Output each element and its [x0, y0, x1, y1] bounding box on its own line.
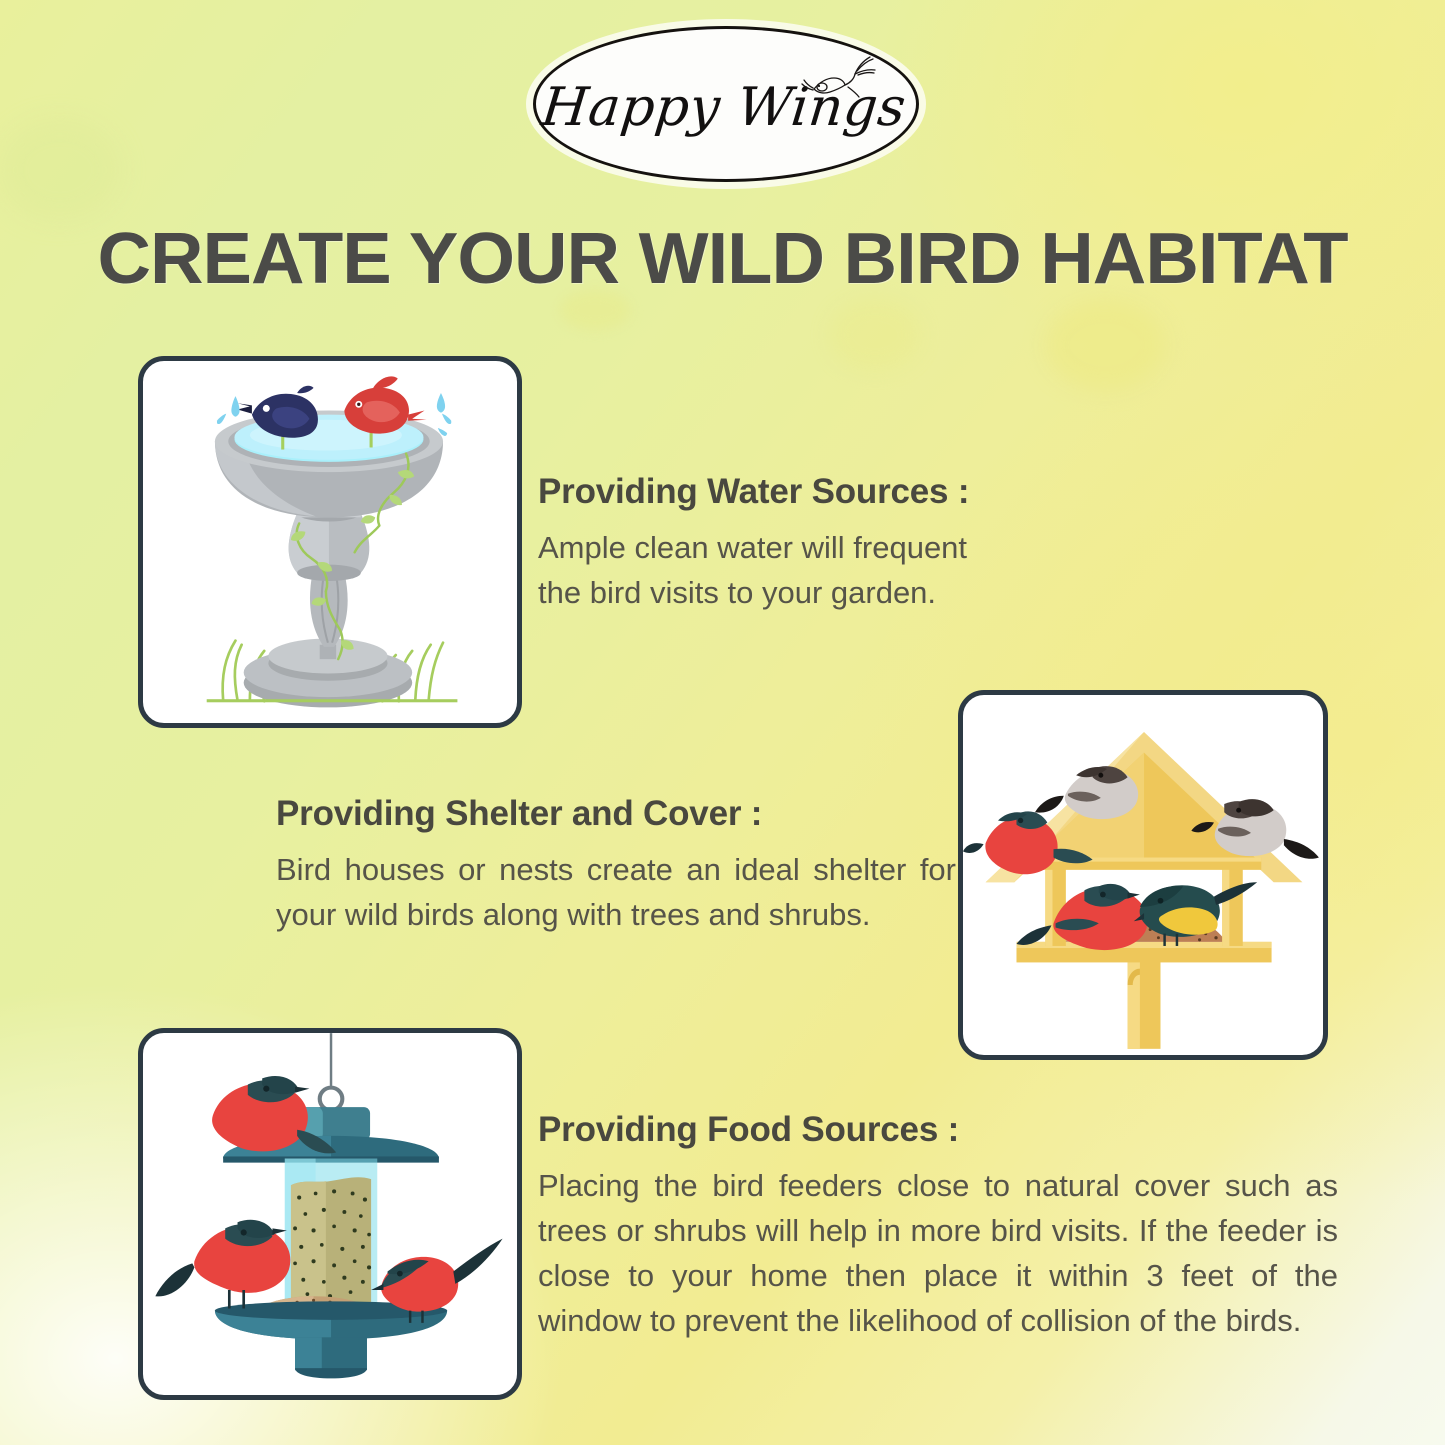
hanging-tube-feeder-illustration	[143, 1033, 517, 1395]
bird-bath-illustration	[143, 361, 517, 723]
chickadee-bird	[1035, 766, 1138, 819]
section-shelter-body: Bird houses or nests create an ideal she…	[276, 848, 956, 938]
section-food-text: Providing Food Sources : Placing the bir…	[538, 1110, 1338, 1344]
bullfinch-bird	[155, 1220, 290, 1309]
bullfinch-bird	[1016, 884, 1147, 950]
section-water-body: Ample clean water will frequent the bird…	[538, 526, 1008, 616]
poster-root: Happy Wings CREATE YOUR WILD BIRD HABITA…	[0, 0, 1445, 1445]
bird-house-illustration-card	[958, 690, 1328, 1060]
watercolor-blotch	[1045, 300, 1165, 390]
watercolor-blotch	[0, 120, 120, 220]
section-food-body: Placing the bird feeders close to natura…	[538, 1164, 1338, 1344]
page-title: CREATE YOUR WILD BIRD HABITAT	[0, 218, 1445, 300]
bird-bath-illustration-card	[138, 356, 522, 728]
section-shelter-text: Providing Shelter and Cover : Bird house…	[276, 794, 956, 938]
section-shelter-heading: Providing Shelter and Cover :	[276, 794, 956, 834]
section-water-text: Providing Water Sources : Ample clean wa…	[538, 472, 1008, 616]
hummingbird-icon	[800, 49, 880, 111]
brand-logo: Happy Wings	[533, 26, 919, 182]
section-water-heading: Providing Water Sources :	[538, 472, 1008, 512]
bird-house-feeder-illustration	[963, 695, 1323, 1055]
section-food-heading: Providing Food Sources :	[538, 1110, 1338, 1150]
watercolor-blotch	[830, 300, 920, 370]
tube-feeder-illustration-card	[138, 1028, 522, 1400]
